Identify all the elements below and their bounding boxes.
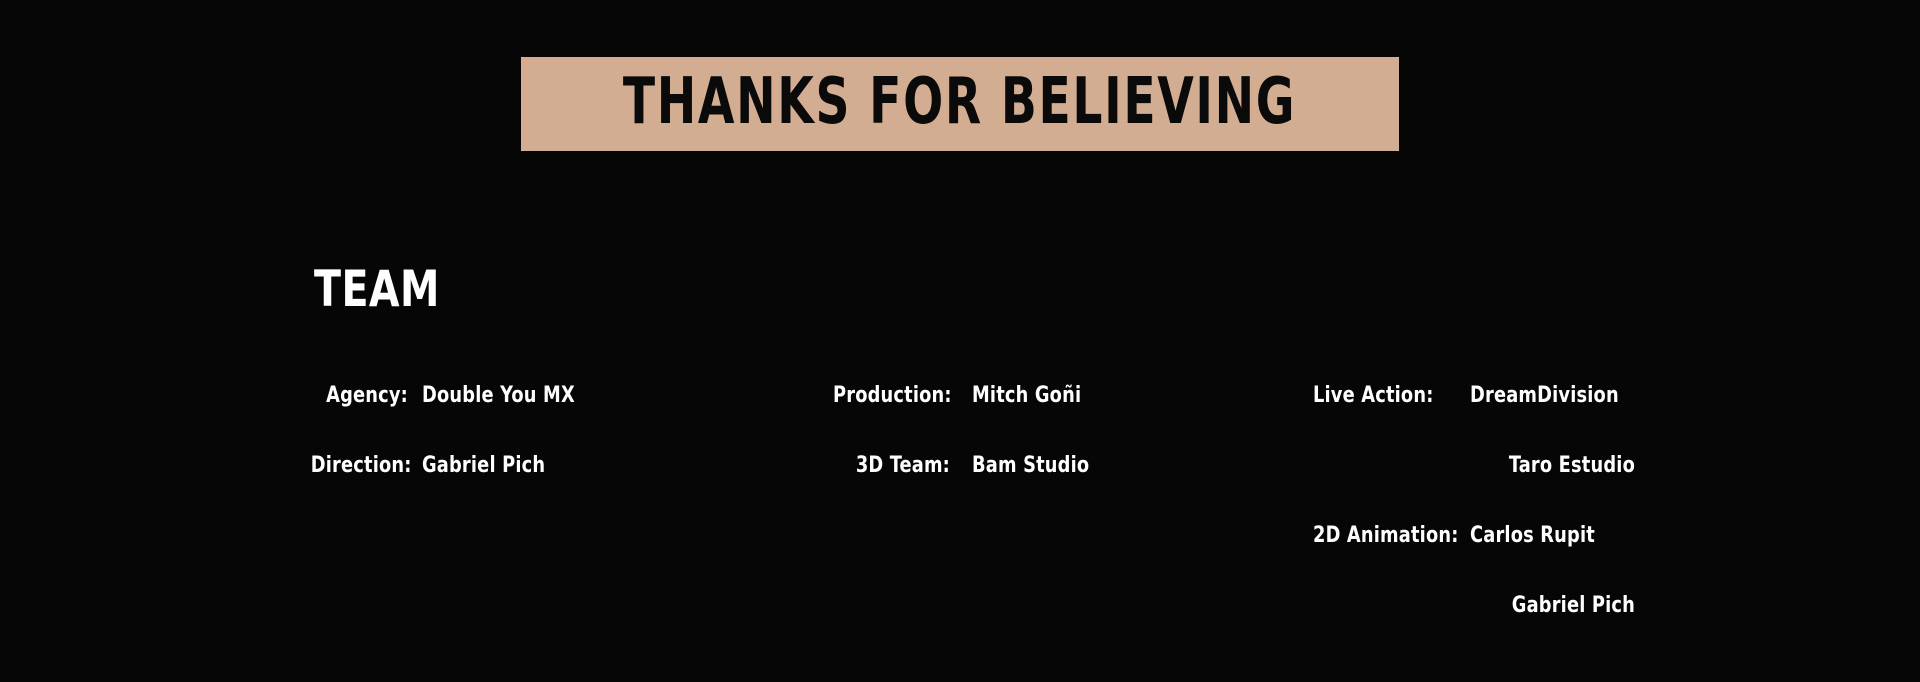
credit-label: 3D Team: bbox=[833, 455, 950, 477]
credit-row: Production: Mitch Goñi bbox=[820, 385, 1240, 455]
banner-title: THANKS FOR BELIEVING bbox=[623, 70, 1296, 134]
credit-column-2: Production: Mitch Goñi 3D Team: Bam Stud… bbox=[820, 385, 1240, 665]
credit-label: 2D Animation: bbox=[1313, 525, 1430, 547]
credit-label: Production: bbox=[833, 385, 950, 407]
credit-value: Taro Estudio bbox=[1487, 455, 1636, 477]
credit-row: Agency: Double You MX bbox=[300, 385, 700, 455]
credit-label: Agency: bbox=[311, 385, 408, 407]
banner-container: THANKS FOR BELIEVING bbox=[0, 57, 1920, 151]
credits-grid: Agency: Double You MX Direction: Gabriel… bbox=[0, 385, 1920, 665]
credit-value: Gabriel Pich bbox=[1487, 595, 1636, 617]
credit-row: Gabriel Pich bbox=[1300, 595, 1720, 665]
thanks-banner: THANKS FOR BELIEVING bbox=[521, 57, 1398, 151]
credit-value: Double You MX bbox=[422, 385, 575, 407]
credits-screen: { "background_color": "#060606", "banner… bbox=[0, 0, 1920, 682]
credit-value: Carlos Rupit bbox=[1470, 525, 1595, 547]
credit-column-1: Agency: Double You MX Direction: Gabriel… bbox=[300, 385, 700, 665]
credit-column-3: Live Action: DreamDivision Taro Estudio … bbox=[1300, 385, 1720, 665]
credit-row: 2D Animation: Carlos Rupit bbox=[1300, 525, 1720, 595]
credit-label: Direction: bbox=[311, 455, 408, 477]
team-heading: TEAM bbox=[314, 264, 440, 314]
credit-row: 3D Team: Bam Studio bbox=[820, 455, 1240, 525]
credit-row: Taro Estudio bbox=[1300, 455, 1720, 525]
credit-value: Mitch Goñi bbox=[972, 385, 1081, 407]
credit-row: Live Action: DreamDivision bbox=[1300, 385, 1720, 455]
credit-value: Bam Studio bbox=[972, 455, 1089, 477]
credit-row: Direction: Gabriel Pich bbox=[300, 455, 700, 525]
credit-label: Live Action: bbox=[1313, 385, 1430, 407]
credit-value: DreamDivision bbox=[1470, 385, 1619, 407]
credit-value: Gabriel Pich bbox=[422, 455, 545, 477]
